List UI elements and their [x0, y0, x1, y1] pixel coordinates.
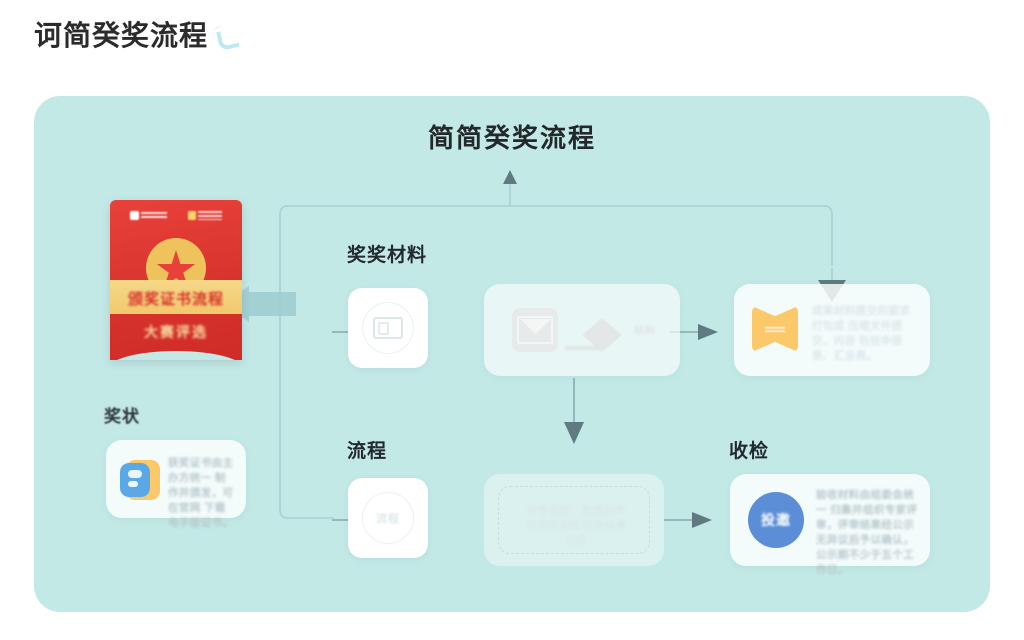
inspect-badge-text: 投邀 — [761, 510, 791, 530]
swoosh-icon — [214, 26, 240, 48]
envelope-icon-tile — [512, 308, 558, 352]
process-detail-panel[interactable]: 评审流程：资格初审 与现场答辩 评审结果公示 — [484, 474, 664, 566]
process-detail-text: 评审流程：资格初审 与现场答辩 评审结果公示 — [520, 504, 632, 549]
award-detail-text: 获奖证书由主办方统一 制作并颁发，可在官网 下载电子版证书。 — [168, 456, 234, 531]
diagram-canvas: 简简癸奖流程 — [34, 96, 990, 612]
section-label-process: 流程 — [347, 436, 387, 463]
page-header: 诃简癸奖流程 — [34, 22, 240, 50]
section-label-materials: 奖奖材料 — [347, 240, 427, 267]
section-label-inspect: 收检 — [729, 436, 769, 463]
bowtie-ribbon-icon — [752, 306, 798, 352]
materials-requirement-text: 成果材料提交的要求打包成 压缩文件提交，内容 包括申报表、汇总表。 — [812, 304, 918, 364]
section-label-award: 奖状 — [104, 402, 140, 427]
grid-outline-icon: 流程 — [362, 492, 414, 544]
ribbon-sub-text: 大赛评选 — [110, 322, 242, 342]
award-detail-card[interactable]: 获奖证书由主办方统一 制作并颁发，可在官网 下载电子版证书。 — [106, 440, 246, 518]
process-icon-card[interactable]: 流程 — [348, 478, 428, 558]
app-doc-icon — [120, 458, 160, 502]
materials-requirement-panel[interactable]: 成果材料提交的要求打包成 压缩文件提交，内容 包括申报表、汇总表。 — [734, 284, 930, 376]
award-certificate-ribbon: 颁奖证书流程 大赛评选 — [110, 200, 242, 360]
diagram-title: 简简癸奖流程 — [34, 118, 990, 155]
page-title: 诃简癸奖流程 — [34, 22, 208, 50]
brand-logo-icon — [188, 211, 222, 220]
inspect-detail-panel[interactable]: 投邀 验收材料由组委会统一 归集并组织专家评审，评审结果经公示 无异议后予以确认… — [730, 474, 930, 566]
inspect-detail-text: 验收材料由组委会统一 归集并组织专家评审，评审结果经公示 无异议后予以确认，公示… — [816, 488, 920, 578]
org-logo-icon — [130, 211, 167, 220]
panel-chip-text: 材料 — [634, 322, 656, 337]
inspect-badge: 投邀 — [748, 492, 804, 548]
materials-icon-card[interactable] — [348, 288, 428, 368]
ribbon-band-text: 颁奖证书流程 — [110, 288, 242, 309]
materials-assets-panel[interactable]: 材料 — [484, 284, 680, 376]
process-glyph-text: 流程 — [376, 510, 400, 526]
card-outline-icon — [362, 302, 414, 354]
